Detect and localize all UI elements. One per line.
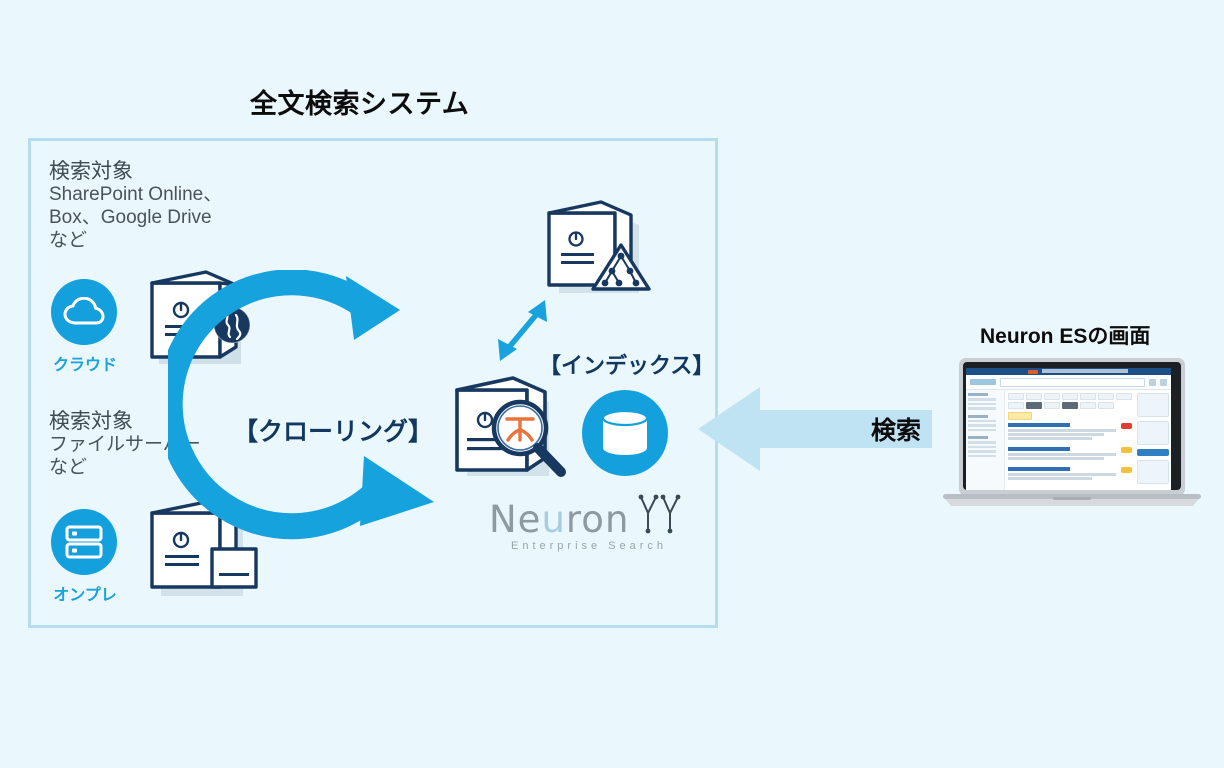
sidebar-block: [968, 393, 1002, 410]
result-snippet: [1008, 477, 1092, 480]
result-body: [1008, 467, 1118, 481]
result-item[interactable]: [1008, 447, 1132, 461]
result-snippet: [1008, 457, 1104, 460]
neuron-tagline: Enterprise Search: [511, 540, 686, 552]
sidebar-item[interactable]: [968, 420, 996, 423]
neuron-logo: Neuron Enterprise Search: [489, 493, 686, 552]
rail-card: [1137, 421, 1169, 445]
filter-row: [1008, 402, 1132, 409]
result-snippet: [1008, 429, 1116, 432]
source-detail-line2: Box、Google Drive: [49, 207, 222, 230]
badge-caption-cloud: クラウド: [44, 351, 126, 375]
neuron-wordmark: Neuron: [489, 501, 629, 538]
screen-header: [966, 375, 1171, 390]
sidebar-item[interactable]: [968, 441, 996, 444]
filter-chip-active[interactable]: [1026, 402, 1042, 409]
result-badge: [1121, 467, 1132, 473]
sidebar-block: [968, 436, 1002, 457]
result-snippet: [1008, 453, 1116, 456]
filter-chip[interactable]: [1062, 393, 1078, 400]
result-title[interactable]: [1008, 447, 1070, 451]
filter-chip[interactable]: [1026, 393, 1042, 400]
database-rack-icon: [51, 509, 117, 575]
source-group-cloud: 検索対象 SharePoint Online、 Box、Google Drive…: [49, 160, 222, 253]
wordmark-highlight: u: [541, 498, 565, 541]
screen-logo: [970, 379, 996, 385]
result-snippet: [1008, 433, 1104, 436]
result-title[interactable]: [1008, 423, 1070, 427]
filter-chip[interactable]: [1008, 393, 1024, 400]
filter-chip[interactable]: [1080, 402, 1096, 409]
badge-caption-onprem: オンプレ: [44, 581, 126, 605]
screen-side-rail: [1135, 390, 1171, 490]
source-detail-line1: SharePoint Online、: [49, 184, 222, 207]
result-body: [1008, 423, 1118, 441]
laptop-title: Neuron ESの画面: [980, 320, 1150, 350]
filter-row: [1008, 393, 1132, 400]
sidebar-item[interactable]: [968, 424, 996, 427]
sidebar-heading: [968, 436, 988, 439]
sidebar-item[interactable]: [968, 429, 996, 432]
sidebar-item[interactable]: [968, 403, 996, 406]
rail-button[interactable]: [1137, 449, 1169, 456]
filter-chip[interactable]: [1044, 393, 1060, 400]
server-magnifier-icon: [443, 368, 585, 497]
source-heading: 検索対象: [49, 160, 222, 184]
result-item[interactable]: [1008, 423, 1132, 441]
sidebar-item[interactable]: [968, 407, 996, 410]
filter-chip[interactable]: [1098, 393, 1114, 400]
topbar-chip: [1028, 370, 1038, 374]
applied-filter-tag[interactable]: [1008, 412, 1032, 420]
cloud-icon: [51, 279, 117, 345]
topbar-text: [1042, 369, 1128, 373]
rail-card: [1137, 460, 1169, 484]
laptop-screen: [966, 368, 1171, 490]
crawling-label: 【クローリング】: [233, 412, 433, 448]
result-badge: [1121, 447, 1132, 453]
result-body: [1008, 447, 1118, 461]
database-cylinder-icon: [582, 390, 668, 476]
filter-chip-active[interactable]: [1062, 402, 1078, 409]
rail-card: [1137, 393, 1169, 417]
sidebar-heading: [968, 393, 988, 396]
sidebar-block: [968, 415, 1002, 432]
filter-chip[interactable]: [1044, 402, 1060, 409]
result-snippet: [1008, 473, 1116, 476]
screen-body: [966, 390, 1171, 490]
source-detail-line3: など: [49, 230, 222, 253]
page-title: 全文検索システム: [250, 82, 469, 121]
screen-user-icon[interactable]: [1149, 379, 1156, 386]
sidebar-item[interactable]: [968, 398, 996, 401]
sidebar-item[interactable]: [968, 455, 996, 458]
result-snippet: [1008, 437, 1092, 440]
filter-chip[interactable]: [1116, 393, 1132, 400]
wordmark-prefix: Ne: [489, 498, 541, 541]
sidebar-item[interactable]: [968, 446, 996, 449]
result-badge: [1121, 423, 1132, 429]
neuron-branch-icon: [632, 493, 686, 535]
screen-results: [1005, 390, 1135, 490]
filter-chip[interactable]: [1008, 402, 1024, 409]
search-arrow-label: 検索: [871, 411, 921, 447]
filter-chip[interactable]: [1098, 402, 1114, 409]
filter-chip[interactable]: [1080, 393, 1096, 400]
sidebar-heading: [968, 415, 988, 418]
wordmark-suffix: ron: [566, 498, 630, 541]
result-item[interactable]: [1008, 467, 1132, 481]
diagram-canvas: 全文検索システム 検索対象 SharePoint Online、 Box、Goo…: [0, 0, 1224, 768]
sidebar-item[interactable]: [968, 450, 996, 453]
screen-topbar: [966, 368, 1171, 375]
screen-search-input[interactable]: [1000, 378, 1145, 387]
screen-settings-icon[interactable]: [1160, 379, 1167, 386]
screen-sidebar: [966, 390, 1005, 490]
result-title[interactable]: [1008, 467, 1070, 471]
